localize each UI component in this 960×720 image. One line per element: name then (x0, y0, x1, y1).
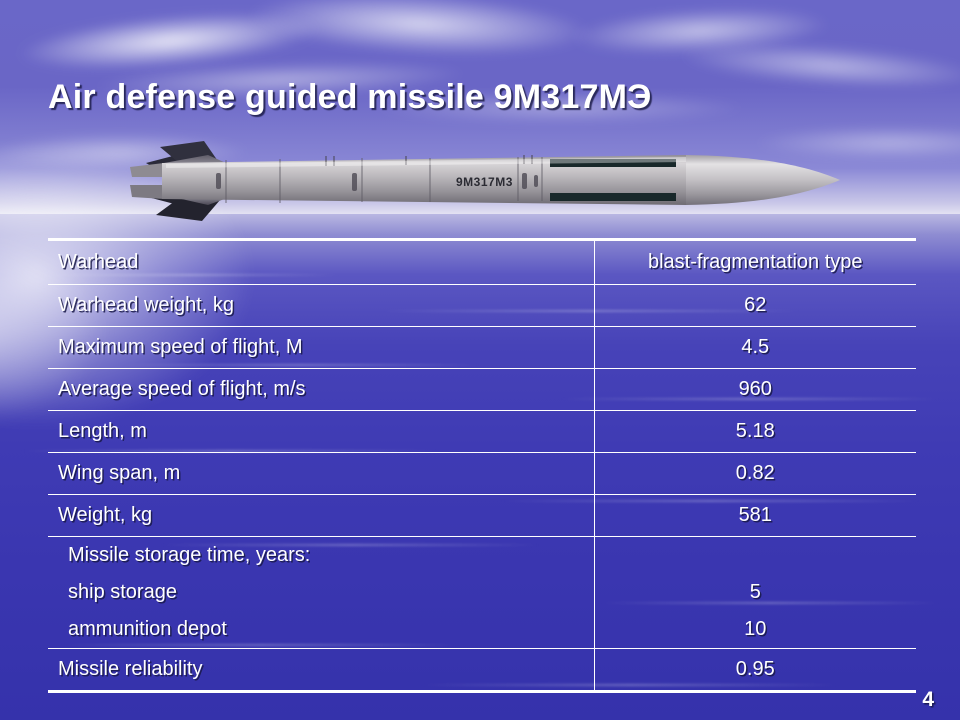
storage-item-value: 5 (595, 574, 917, 611)
storage-values: 5 10 (594, 537, 916, 649)
row-label: Average speed of flight, m/s (48, 369, 594, 411)
row-value: 4.5 (594, 327, 916, 369)
table-row: Length, m 5.18 (48, 411, 916, 453)
table-row: Maximum speed of flight, M 4.5 (48, 327, 916, 369)
specifications-table: Warhead blast-fragmentation type Warhead… (48, 238, 916, 693)
row-value: 0.82 (594, 453, 916, 495)
row-label: Weight, kg (48, 495, 594, 537)
row-value: 62 (594, 285, 916, 327)
row-label: Length, m (48, 411, 594, 453)
row-value: blast-fragmentation type (594, 240, 916, 285)
storage-title-value (595, 537, 917, 574)
row-label: Warhead weight, kg (48, 285, 594, 327)
page-number: 4 (922, 688, 934, 712)
row-value: 0.95 (594, 649, 916, 692)
nose-cone (686, 155, 840, 205)
page-title: Air defense guided missile 9M317MЭ (48, 78, 652, 117)
missile-illustration: 9M317M3 (130, 133, 840, 229)
row-value: 960 (594, 369, 916, 411)
storage-item-label: ammunition depot (58, 611, 594, 648)
row-value: 5.18 (594, 411, 916, 453)
missile-body-marking: 9M317M3 (456, 175, 513, 189)
row-label: Warhead (48, 240, 594, 285)
storage-title: Missile storage time, years: (58, 537, 594, 574)
table-row-storage-block: Missile storage time, years: ship storag… (48, 537, 916, 649)
nose-stripe-lower (550, 193, 676, 201)
row-label: Missile reliability (48, 649, 594, 692)
table-row: Average speed of flight, m/s 960 (48, 369, 916, 411)
row-label: Wing span, m (48, 453, 594, 495)
slide: Air defense guided missile 9M317MЭ (0, 0, 960, 720)
row-value: 581 (594, 495, 916, 537)
table-row: Weight, kg 581 (48, 495, 916, 537)
table-row: Wing span, m 0.82 (48, 453, 916, 495)
table-row: Warhead weight, kg 62 (48, 285, 916, 327)
storage-item-label: ship storage (58, 574, 594, 611)
table-row: Missile reliability 0.95 (48, 649, 916, 692)
storage-item-value: 10 (595, 611, 917, 648)
storage-labels: Missile storage time, years: ship storag… (48, 537, 594, 649)
table-row: Warhead blast-fragmentation type (48, 240, 916, 285)
row-label: Maximum speed of flight, M (48, 327, 594, 369)
